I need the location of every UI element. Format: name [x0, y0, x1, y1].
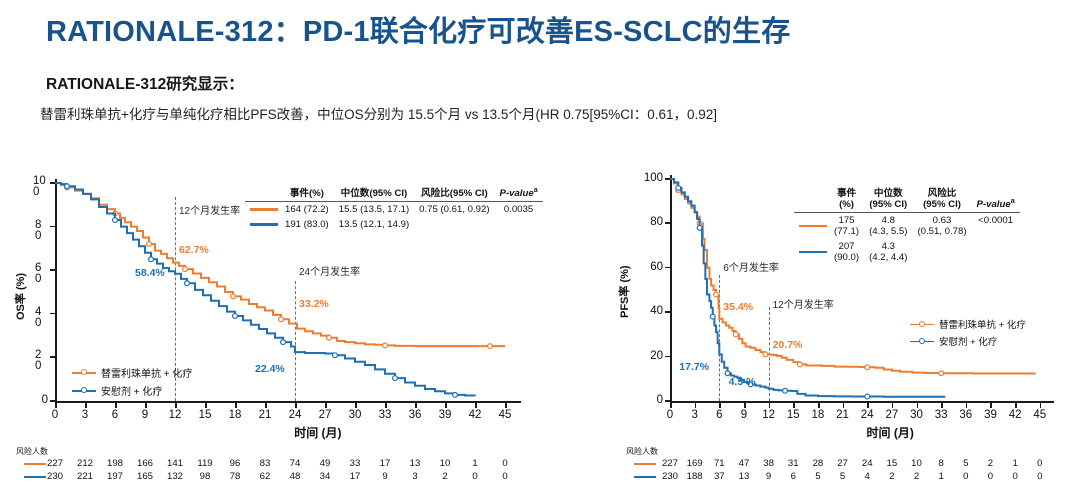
risk-cell: 1 — [462, 458, 488, 469]
risk-cell: 78 — [222, 471, 248, 482]
legend-item: 替雷利珠单抗 + 化疗 — [72, 365, 192, 380]
risk-cell: 0 — [492, 471, 518, 482]
risk-cell: 4 — [854, 471, 880, 482]
lead-paragraph: 替雷利珠单抗+化疗与单纯化疗相比PFS改善，中位OS分别为 15.5个月 vs … — [40, 103, 717, 123]
page-title: RATIONALE-312：PD-1联合化疗可改善ES-SCLC的生存 — [46, 8, 790, 50]
risk-cell: 0 — [1027, 458, 1053, 469]
risk-cell: 0 — [1002, 471, 1028, 482]
risk-cell: 17 — [342, 471, 368, 482]
risk-cell: 9 — [756, 471, 782, 482]
censor-marker — [453, 392, 458, 397]
risk-cell: 49 — [312, 458, 338, 469]
y-tick-label: 20 — [637, 350, 663, 362]
risk-cell: 165 — [132, 471, 158, 482]
col-hr: 风险比(95% CI) — [414, 185, 494, 202]
censor-marker — [865, 394, 870, 399]
risk-cell: 74 — [282, 458, 308, 469]
chart-annotation: 22.4% — [255, 363, 285, 375]
risk-cell: 119 — [192, 458, 218, 469]
censor-marker — [725, 371, 730, 376]
cell-median: 4.8(4.3, 5.5) — [864, 213, 912, 240]
chart-annotation: 12个月发生率 — [773, 296, 834, 311]
x-axis-title: 时间 (月) — [294, 424, 341, 441]
risk-cell: 3 — [402, 471, 428, 482]
y-tick-label: 40 — [35, 307, 49, 329]
chart-annotation: 20.7% — [773, 339, 803, 351]
stats-table: 事件(%)中位数(95% CI)风险比(95% CI)P-valuea 175(… — [794, 185, 1020, 265]
legend-swatch — [72, 386, 96, 395]
row-swatch — [245, 217, 280, 232]
risk-cell: 71 — [706, 458, 732, 469]
risk-cell: 2 — [879, 471, 905, 482]
risk-cell: 13 — [402, 458, 428, 469]
chart-legend: 替雷利珠单抗 + 化疗 安慰剂 + 化疗 — [72, 365, 192, 401]
risk-cell: 212 — [72, 458, 98, 469]
legend-swatch — [72, 368, 96, 377]
censor-marker — [865, 365, 870, 370]
censor-marker — [279, 317, 284, 322]
risk-cell: 27 — [830, 458, 856, 469]
legend-label: 安慰剂 + 化疗 — [939, 334, 997, 348]
risk-cell: 5 — [953, 458, 979, 469]
y-tick-label: 20 — [35, 350, 49, 372]
os-chart-panel: 020406080100OS率 (%)036912151821242730333… — [0, 165, 600, 497]
chart-annotation: 4.5 % — [729, 376, 756, 388]
risk-cell: 166 — [132, 458, 158, 469]
censor-marker — [327, 335, 332, 340]
chart-annotation: 62.7% — [179, 244, 209, 256]
y-tick-label: 0 — [637, 394, 663, 406]
y-axis-title: PFS率 (%) — [616, 265, 632, 318]
cell-events: 175(77.1) — [829, 213, 864, 240]
cell-hr: 0.75 (0.61, 0.92) — [414, 202, 494, 218]
risk-row-swatch — [634, 463, 656, 465]
risk-row-swatch — [634, 476, 656, 478]
table-row: 207(90.0) 4.3(4.2, 4.4) — [794, 239, 1020, 265]
risk-cell: 34 — [312, 471, 338, 482]
risk-table-row: 2301883713965542210000 — [612, 471, 1050, 484]
legend-swatch — [910, 320, 934, 329]
censor-marker — [733, 332, 738, 337]
cell-median: 15.5 (13.5, 17.1) — [334, 202, 414, 218]
table-row: 164 (72.2) 15.5 (13.5, 17.1) 0.75 (0.61,… — [245, 202, 543, 218]
cell-pvalue — [972, 239, 1020, 265]
risk-cell: 230 — [657, 471, 683, 482]
col-pvalue: P-valuea — [495, 185, 543, 202]
risk-cell: 96 — [222, 458, 248, 469]
censor-marker — [797, 362, 802, 367]
cell-pvalue: <0.0001 — [972, 213, 1020, 240]
risk-cell: 0 — [462, 471, 488, 482]
risk-cell: 31 — [780, 458, 806, 469]
cell-events: 207(90.0) — [829, 239, 864, 265]
y-axis-title: OS率 (%) — [12, 273, 28, 320]
censor-marker — [231, 294, 236, 299]
censor-marker — [783, 388, 788, 393]
risk-cell: 2 — [904, 471, 930, 482]
risk-cell: 28 — [805, 458, 831, 469]
risk-table-caption: 风险人数 — [626, 446, 658, 457]
risk-table-row: 23022119716513298786248341793200 — [0, 471, 520, 484]
col-median: 中位数(95% CI) — [864, 185, 912, 213]
section-subtitle: RATIONALE-312研究显示： — [46, 72, 244, 94]
censor-marker — [149, 257, 154, 262]
risk-cell: 132 — [162, 471, 188, 482]
col-events: 事件(%) — [280, 185, 334, 202]
y-tick-label: 60 — [35, 263, 49, 285]
y-tick-label: 40 — [637, 305, 663, 317]
censor-marker — [281, 340, 286, 345]
chart-annotation: 12个月发生率 — [179, 202, 240, 217]
risk-cell: 0 — [953, 471, 979, 482]
risk-cell: 13 — [731, 471, 757, 482]
risk-cell: 2 — [432, 471, 458, 482]
risk-cell: 1 — [928, 471, 954, 482]
risk-cell: 227 — [42, 458, 68, 469]
y-tick-label: 100 — [637, 172, 663, 184]
chart-annotation: 33.2% — [299, 298, 329, 310]
risk-cell: 10 — [432, 458, 458, 469]
censor-marker — [939, 371, 944, 376]
y-tick-label: 60 — [637, 261, 663, 273]
censor-marker — [763, 352, 768, 357]
chart-annotation: 17.7% — [679, 361, 709, 373]
risk-cell: 15 — [879, 458, 905, 469]
legend-label: 替雷利珠单抗 + 化疗 — [101, 365, 192, 380]
risk-cell: 1 — [1002, 458, 1028, 469]
chart-annotation: 58.4% — [135, 267, 165, 279]
risk-cell: 37 — [706, 471, 732, 482]
censor-marker — [147, 242, 152, 247]
cell-hr — [414, 217, 494, 232]
y-tick-label: 80 — [637, 216, 663, 228]
risk-cell: 0 — [977, 471, 1003, 482]
cell-median: 4.3(4.2, 4.4) — [864, 239, 912, 265]
legend-item: 替雷利珠单抗 + 化疗 — [910, 317, 1026, 331]
censor-marker — [393, 376, 398, 381]
risk-cell: 24 — [854, 458, 880, 469]
censor-marker — [714, 292, 719, 297]
censor-marker — [710, 314, 715, 319]
row-swatch — [245, 202, 280, 218]
censor-marker — [697, 225, 702, 230]
risk-cell: 33 — [342, 458, 368, 469]
legend-label: 安慰剂 + 化疗 — [101, 383, 162, 398]
row-swatch — [794, 239, 829, 265]
cell-pvalue: 0.0035 — [495, 202, 543, 218]
censor-marker — [383, 343, 388, 348]
col-hr: 风险比(95% CI) — [912, 185, 971, 213]
risk-cell: 10 — [904, 458, 930, 469]
risk-cell: 62 — [252, 471, 278, 482]
censor-marker — [113, 218, 118, 223]
table-row: 175(77.1) 4.8(4.3, 5.5) 0.63(0.51, 0.78)… — [794, 213, 1020, 240]
risk-table-row: 22716971473831282724151085210 — [612, 458, 1050, 471]
col-median: 中位数(95% CI) — [334, 185, 414, 202]
risk-cell: 221 — [72, 471, 98, 482]
risk-cell: 5 — [830, 471, 856, 482]
cell-hr — [912, 239, 971, 265]
y-tick-label: 100 — [33, 176, 47, 198]
risk-cell: 5 — [805, 471, 831, 482]
censor-marker — [233, 314, 238, 319]
stats-table: 事件(%)中位数(95% CI)风险比(95% CI)P-valuea 164 … — [245, 185, 543, 232]
censor-marker — [488, 344, 493, 349]
risk-cell: 169 — [682, 458, 708, 469]
risk-cell: 197 — [102, 471, 128, 482]
col-pvalue: P-valuea — [972, 185, 1020, 213]
y-tick-label: 0 — [22, 394, 48, 406]
x-axis-title: 时间 (月) — [867, 424, 914, 441]
risk-cell: 198 — [102, 458, 128, 469]
table-row: 191 (83.0) 13.5 (12.1, 14.9) — [245, 217, 543, 232]
risk-cell: 47 — [731, 458, 757, 469]
risk-cell: 17 — [372, 458, 398, 469]
censor-marker — [676, 185, 681, 190]
cell-events: 191 (83.0) — [280, 217, 334, 232]
risk-cell: 9 — [372, 471, 398, 482]
risk-cell: 141 — [162, 458, 188, 469]
chart-annotation: 24个月发生率 — [299, 263, 360, 278]
risk-cell: 98 — [192, 471, 218, 482]
cell-hr: 0.63(0.51, 0.78) — [912, 213, 971, 240]
pfs-chart-panel: 020406080100PFS率 (%)03691215182124273033… — [612, 165, 1080, 497]
risk-cell: 83 — [252, 458, 278, 469]
cell-median: 13.5 (12.1, 14.9) — [334, 217, 414, 232]
risk-table-row: 227212198166141119968374493317131010 — [0, 458, 520, 471]
risk-table-caption: 风险人数 — [16, 446, 48, 457]
slide-root: RATIONALE-312：PD-1联合化疗可改善ES-SCLC的生存 RATI… — [0, 0, 1080, 497]
risk-cell: 38 — [756, 458, 782, 469]
censor-marker — [183, 267, 188, 272]
chart-annotation: 35.4% — [723, 301, 753, 313]
y-tick-label: 80 — [35, 220, 49, 242]
risk-cell: 188 — [682, 471, 708, 482]
legend-item: 安慰剂 + 化疗 — [72, 383, 192, 398]
row-swatch — [794, 213, 829, 240]
legend-label: 替雷利珠单抗 + 化疗 — [939, 317, 1026, 331]
cell-pvalue — [495, 217, 543, 232]
col-events: 事件(%) — [829, 185, 864, 213]
legend-item: 安慰剂 + 化疗 — [910, 334, 1026, 348]
censor-marker — [185, 281, 190, 286]
censor-marker — [333, 353, 338, 358]
risk-cell: 8 — [928, 458, 954, 469]
chart-legend: 替雷利珠单抗 + 化疗 安慰剂 + 化疗 — [910, 317, 1026, 351]
legend-swatch — [910, 337, 934, 346]
risk-cell: 48 — [282, 471, 308, 482]
risk-cell: 6 — [780, 471, 806, 482]
risk-cell: 2 — [977, 458, 1003, 469]
chart-annotation: 6个月发生率 — [723, 259, 779, 274]
risk-cell: 230 — [42, 471, 68, 482]
risk-cell: 0 — [492, 458, 518, 469]
censor-marker — [65, 184, 70, 189]
cell-events: 164 (72.2) — [280, 202, 334, 218]
risk-cell: 227 — [657, 458, 683, 469]
risk-cell: 0 — [1027, 471, 1053, 482]
